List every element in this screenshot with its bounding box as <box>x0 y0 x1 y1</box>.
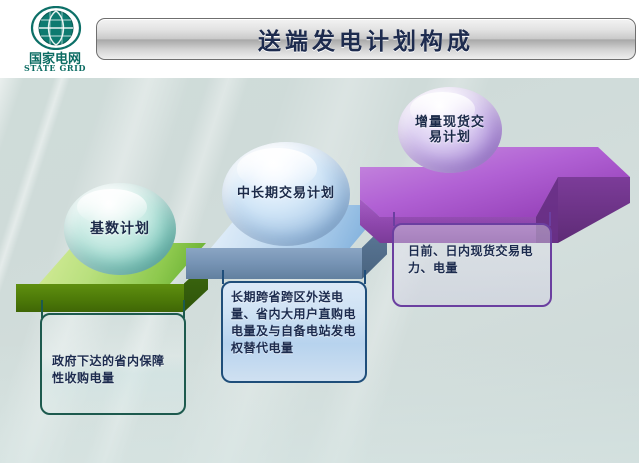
sphere-label-medium-long-term-plan: 中长期交易计划 <box>222 142 350 246</box>
callout-text-incremental-spot-plan: 日前、日内现货交易电力、电量 <box>394 225 550 277</box>
state-grid-globe-icon <box>30 6 82 50</box>
state-grid-logo: 国家电网 STATE GRID <box>16 6 94 72</box>
sphere-label-incremental-spot-plan: 增量现货交 易计划 <box>398 87 502 173</box>
sphere-label-line-1: 增量现货交 <box>415 115 485 130</box>
title-plaque: 送端发电计划构成 <box>96 18 636 60</box>
callout-base-plan: 政府下达的省内保障性收购电量 <box>40 313 186 415</box>
sphere-highlight <box>410 92 474 126</box>
callout-text-medium-long-term-plan: 长期跨省跨区外送电量、省内大用户直购电电量及与自备电站发电权替代电量 <box>223 283 365 357</box>
callout-text-base-plan: 政府下达的省内保障性收购电量 <box>42 315 184 387</box>
header-band: 国家电网 STATE GRID 送端发电计划构成 <box>0 0 639 78</box>
sphere-label-base-plan: 基数计划 <box>64 183 176 275</box>
logo-name-en: STATE GRID <box>16 63 94 73</box>
sphere-medium-long-term-plan[interactable]: 中长期交易计划 <box>222 142 350 246</box>
sphere-label-line-2: 易计划 <box>429 130 471 145</box>
slide-canvas: 国家电网 STATE GRID 送端发电计划构成 基数计划 政府下达的省内保障性… <box>0 0 639 463</box>
callout-medium-long-term-plan: 长期跨省跨区外送电量、省内大用户直购电电量及与自备电站发电权替代电量 <box>221 281 367 383</box>
sphere-incremental-spot-plan[interactable]: 增量现货交 易计划 <box>398 87 502 173</box>
sphere-base-plan[interactable]: 基数计划 <box>64 183 176 275</box>
sphere-highlight <box>77 189 146 226</box>
sphere-highlight <box>237 148 316 190</box>
page-title: 送端发电计划构成 <box>97 19 635 59</box>
callout-incremental-spot-plan: 日前、日内现货交易电力、电量 <box>392 223 552 307</box>
